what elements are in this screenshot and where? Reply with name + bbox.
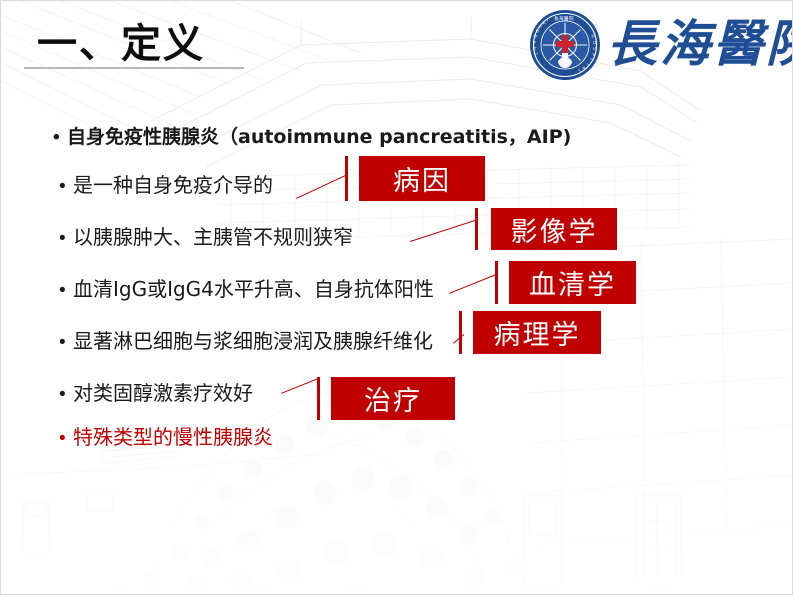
- tick-mark-cause: [345, 156, 348, 201]
- svg-text:O: O: [592, 41, 597, 45]
- tick-mark-imaging: [475, 208, 478, 250]
- callout-box-imaging[interactable]: 影像学: [491, 208, 617, 250]
- hospital-name-text: 長海醫院: [607, 11, 793, 77]
- callout-box-serum[interactable]: 血清学: [509, 261, 636, 304]
- list-item-label: 自身免疫性胰腺炎（autoimmune pancreatitis，AIP): [67, 126, 571, 149]
- leader-line-imaging: [410, 219, 477, 242]
- bullet-dot-icon: •: [59, 177, 73, 196]
- bullet-dot-icon: •: [59, 229, 73, 248]
- bullet-dot-icon: •: [59, 385, 73, 404]
- tick-mark-treatment: [317, 377, 320, 420]
- callout-box-pathology[interactable]: 病理学: [473, 311, 601, 354]
- bullet-dot-icon: •: [53, 128, 67, 147]
- callout-box-cause[interactable]: 病因: [359, 156, 485, 201]
- list-item-label: 血清IgG或IgG4水平升高、自身抗体阳性: [73, 277, 434, 301]
- list-item: • 自身免疫性胰腺炎（autoimmune pancreatitis，AIP): [53, 126, 571, 149]
- list-item: • 是一种自身免疫介导的: [59, 173, 273, 197]
- title-underline: [24, 67, 244, 69]
- page-title: 一、定义: [37, 11, 205, 69]
- bullet-dot-icon: •: [59, 429, 73, 448]
- list-item-label: 以胰腺肿大、主胰管不规则狭窄: [73, 225, 353, 249]
- bullet-dot-icon: •: [59, 281, 73, 300]
- leader-line-cause: [296, 174, 347, 199]
- list-item: • 血清IgG或IgG4水平升高、自身抗体阳性: [59, 277, 434, 301]
- hospital-logo: C H A N G H A I H O S P I T A L 長海醫院: [529, 7, 784, 87]
- list-item-label: 对类固醇激素疗效好: [73, 381, 253, 405]
- list-item-label: 特殊类型的慢性胰腺炎: [73, 425, 273, 449]
- list-item: • 显著淋巴细胞与浆细胞浸润及胰腺纤维化: [59, 329, 433, 353]
- svg-text:S: S: [592, 47, 597, 51]
- bullet-dot-icon: •: [59, 333, 73, 352]
- list-item: • 特殊类型的慢性胰腺炎: [59, 425, 273, 449]
- list-item: • 对类固醇激素疗效好: [59, 381, 253, 405]
- svg-text:長海醫院: 長海醫院: [554, 15, 574, 22]
- callout-box-treatment[interactable]: 治疗: [331, 377, 455, 420]
- hospital-emblem-icon: C H A N G H A I H O S P I T A L 長海醫院: [529, 9, 601, 81]
- list-item-label: 是一种自身免疫介导的: [73, 173, 273, 197]
- slide-canvas: 一、定义: [0, 0, 793, 595]
- leader-line-treatment: [281, 377, 320, 394]
- list-item-label: 显著淋巴细胞与浆细胞浸润及胰腺纤维化: [73, 329, 433, 353]
- list-item: • 以胰腺肿大、主胰管不规则狭窄: [59, 225, 353, 249]
- tick-mark-pathology: [459, 311, 462, 354]
- tick-mark-serum: [495, 261, 498, 304]
- leader-line-serum: [449, 274, 498, 294]
